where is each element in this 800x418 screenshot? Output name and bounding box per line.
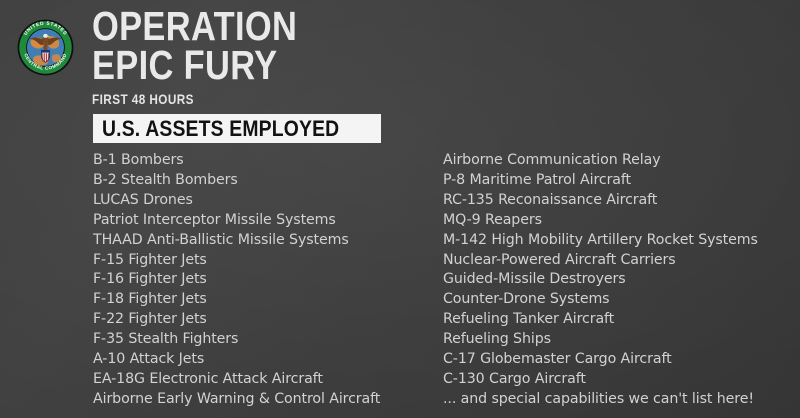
asset-list-item: Nuclear-Powered Aircraft Carriers	[443, 251, 795, 271]
asset-list-item: ... and special capabilities we can't li…	[443, 390, 795, 410]
asset-list-item: F-18 Fighter Jets	[93, 290, 438, 310]
asset-list-item: M-142 High Mobility Artillery Rocket Sys…	[443, 231, 795, 251]
asset-list-item: LUCAS Drones	[93, 191, 438, 211]
asset-list-item: MQ-9 Reapers	[443, 211, 795, 231]
asset-list-item: Refueling Tanker Aircraft	[443, 310, 795, 330]
operation-title-line-2: EPIC FURY	[92, 47, 297, 85]
asset-column-left: B-1 BombersB-2 Stealth BombersLUCAS Dron…	[93, 151, 438, 410]
operation-subtitle: FIRST 48 HOURS	[92, 91, 297, 107]
asset-list-item: C-17 Globemaster Cargo Aircraft	[443, 350, 795, 370]
asset-column-right: Airborne Communication RelayP-8 Maritime…	[443, 151, 795, 410]
asset-list-item: B-2 Stealth Bombers	[93, 171, 438, 191]
asset-list-item: THAAD Anti-Ballistic Missile Systems	[93, 231, 438, 251]
asset-list-item: Airborne Communication Relay	[443, 151, 795, 171]
asset-columns: B-1 BombersB-2 Stealth BombersLUCAS Dron…	[0, 151, 800, 411]
asset-list-item: EA-18G Electronic Attack Aircraft	[93, 370, 438, 390]
asset-list-item: F-35 Stealth Fighters	[93, 330, 438, 350]
operation-title-line-1: OPERATION	[92, 8, 297, 46]
asset-list-item: B-1 Bombers	[93, 151, 438, 171]
asset-list-item: Counter-Drone Systems	[443, 290, 795, 310]
asset-list-item: C-130 Cargo Aircraft	[443, 370, 795, 390]
header: UNITED STATES CENTRAL COMMAND OPERATION …	[0, 0, 800, 108]
asset-list-item: F-22 Fighter Jets	[93, 310, 438, 330]
asset-list-item: F-15 Fighter Jets	[93, 251, 438, 271]
asset-list-item: Patriot Interceptor Missile Systems	[93, 211, 438, 231]
asset-list-item: Guided-Missile Destroyers	[443, 270, 795, 290]
infographic-root: UNITED STATES CENTRAL COMMAND OPERATION …	[0, 0, 800, 418]
section-banner-label: U.S. ASSETS EMPLOYED	[102, 118, 339, 140]
us-central-command-seal-icon: UNITED STATES CENTRAL COMMAND	[17, 19, 74, 76]
asset-list-item: Airborne Early Warning & Control Aircraf…	[93, 390, 438, 410]
asset-list-item: P-8 Maritime Patrol Aircraft	[443, 171, 795, 191]
asset-list-item: F-16 Fighter Jets	[93, 270, 438, 290]
title-block: OPERATION EPIC FURY FIRST 48 HOURS	[92, 8, 336, 107]
section-banner: U.S. ASSETS EMPLOYED	[93, 114, 381, 143]
asset-list-item: RC-135 Reconaissance Aircraft	[443, 191, 795, 211]
asset-list-item: A-10 Attack Jets	[93, 350, 438, 370]
asset-list-item: Refueling Ships	[443, 330, 795, 350]
